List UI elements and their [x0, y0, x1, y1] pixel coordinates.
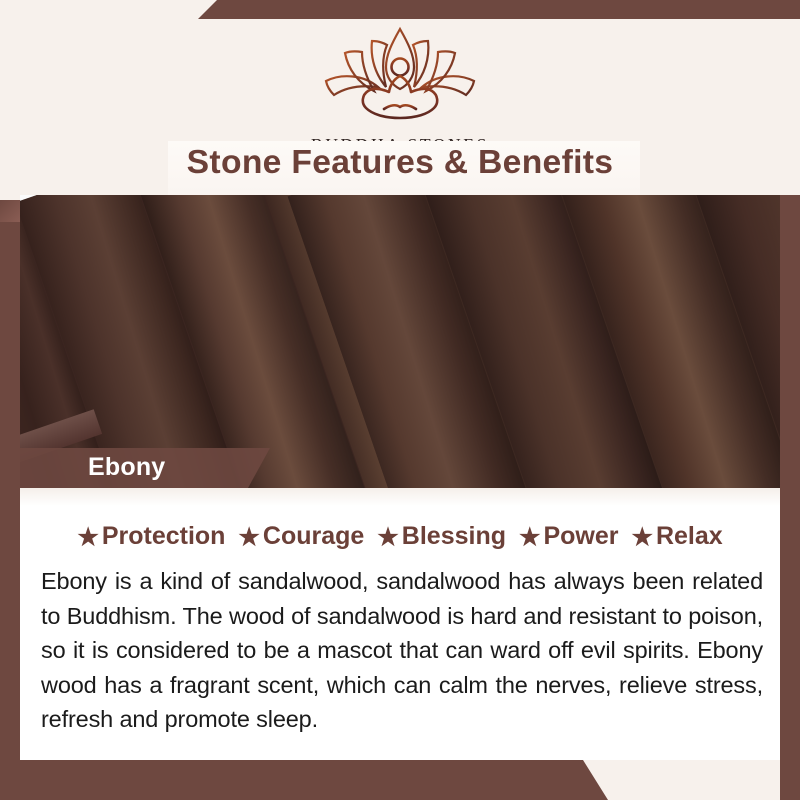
frame-left-notch [0, 200, 20, 222]
star-icon: ★ [77, 524, 99, 551]
benefit-item: ★Blessing [377, 522, 506, 552]
benefit-item: ★Protection [77, 522, 225, 552]
poster-root: BUDDHA STONES Stone Features & Benefits … [0, 0, 800, 800]
benefit-label: Courage [263, 522, 364, 550]
star-icon: ★ [377, 524, 399, 551]
product-photo: Ebony [20, 195, 780, 488]
frame-top-bar [0, 0, 800, 19]
lotus-meditation-icon [0, 25, 800, 134]
content-top-fade [20, 488, 780, 506]
page-title: Stone Features & Benefits [0, 143, 800, 181]
benefit-item: ★Courage [238, 522, 364, 552]
star-icon: ★ [519, 524, 541, 551]
benefits-list: ★Protection ★Courage ★Blessing ★Power ★R… [20, 522, 780, 552]
description-text: Ebony is a kind of sandalwood, sandalwoo… [41, 564, 763, 737]
star-icon: ★ [631, 524, 653, 551]
benefit-item: ★Power [519, 522, 619, 552]
star-icon: ★ [238, 524, 260, 551]
benefit-label: Protection [102, 522, 226, 550]
benefit-label: Relax [656, 522, 723, 550]
brand-logo: BUDDHA STONES [0, 25, 800, 156]
header: BUDDHA STONES Stone Features & Benefits [0, 19, 800, 195]
benefit-item: ★Relax [631, 522, 722, 552]
benefit-label: Blessing [402, 522, 506, 550]
content-panel: ★Protection ★Courage ★Blessing ★Power ★R… [20, 488, 780, 760]
frame-bottom-bar [0, 760, 800, 800]
product-label: Ebony [88, 453, 165, 482]
benefit-label: Power [543, 522, 618, 550]
frame-left-bar [0, 200, 20, 800]
